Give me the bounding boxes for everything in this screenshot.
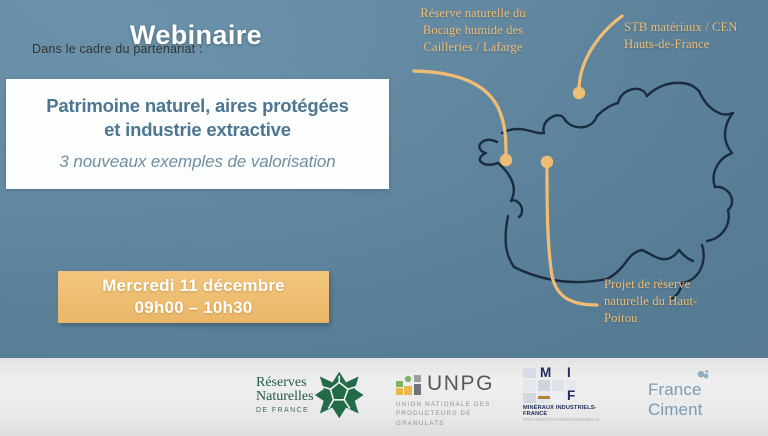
time-value: 09h00 – 10h30 xyxy=(135,297,253,319)
connector-stb xyxy=(579,16,622,91)
map-marker-stb xyxy=(573,87,585,99)
map-label-stb-line-2: Hauts-de-France xyxy=(624,36,768,53)
date-badge: Mercredi 11 décembre 09h00 – 10h30 xyxy=(58,271,329,323)
unpg-mark-row: UNPG xyxy=(396,372,494,396)
unpg-tagline: UNION NATIONALE DES PRODUCTEURS DE GRANU… xyxy=(396,400,514,428)
rnf-line-3: DE FRANCE xyxy=(256,407,314,414)
map-label-bocage-line-2: Bocage humide des xyxy=(388,22,558,39)
france-map-region: Réserve naturelle du Bocage humide des C… xyxy=(392,0,768,358)
map-label-poitou-line-1: Projet de réserve xyxy=(604,276,734,293)
map-label-stb: STB matériaux / CEN Hauts-de-France xyxy=(624,19,768,53)
connector-poitou xyxy=(547,164,597,305)
headline-main: Patrimoine naturel, aires protégées et i… xyxy=(46,94,348,141)
headline-line-1: Patrimoine naturel, aires protégées xyxy=(46,94,348,117)
map-label-poitou: Projet de réserve naturelle du Haut- Poi… xyxy=(604,276,734,327)
partnership-label: Dans le cadre du partenariat : xyxy=(32,42,203,56)
mif-letter-m: M xyxy=(540,365,551,380)
mif-letter-i: I xyxy=(567,365,571,380)
rnf-wordmark: Réserves Naturelles DE FRANCE xyxy=(256,376,314,414)
connector-bocage xyxy=(414,71,506,158)
map-label-bocage-line-1: Réserve naturelle du xyxy=(388,5,558,22)
map-marker-bocage xyxy=(500,154,512,166)
webinar-slide: Webinaire Patrimoine naturel, aires prot… xyxy=(0,0,768,436)
headline-card: Patrimoine naturel, aires protégées et i… xyxy=(6,79,389,189)
map-label-bocage-line-3: Cailleries / Lafarge xyxy=(388,39,558,56)
unpg-wordmark: UNPG xyxy=(427,372,494,396)
map-label-poitou-line-3: Poitou xyxy=(604,310,734,327)
unpg-tagline-line-2: PRODUCTEURS DE GRANULATS xyxy=(396,409,514,428)
rnf-line-1: Réserves xyxy=(256,376,314,391)
france-ciment-wordmark: France Ciment xyxy=(648,380,760,420)
logo-mif: M I F MINÉRAUX INDUSTRIELS-FRANCE ORGANI… xyxy=(523,366,613,422)
mif-letter-f: F xyxy=(567,388,575,403)
unpg-tagline-line-1: UNION NATIONALE DES xyxy=(396,400,514,409)
map-label-bocage: Réserve naturelle du Bocage humide des C… xyxy=(388,5,558,56)
map-marker-poitou xyxy=(541,156,553,168)
france-ciment-circles-icon xyxy=(680,370,728,379)
map-label-stb-line-1: STB matériaux / CEN xyxy=(624,19,768,36)
logo-unpg: UNPG UNION NATIONALE DES PRODUCTEURS DE … xyxy=(396,372,514,420)
date-value: Mercredi 11 décembre xyxy=(102,275,285,297)
logo-france-ciment: France Ciment xyxy=(648,370,760,420)
rnf-star-emblem xyxy=(314,370,364,420)
headline-line-2: et industrie extractive xyxy=(46,118,348,141)
mif-tagline: MINÉRAUX INDUSTRIELS-FRANCE xyxy=(523,405,613,417)
headline-subtitle: 3 nouveaux exemples de valorisation xyxy=(59,152,335,172)
unpg-blocks-icon xyxy=(396,373,422,396)
logo-reserves-naturelles-de-france: Réserves Naturelles DE FRANCE xyxy=(256,368,364,422)
map-label-poitou-line-2: naturelle du Haut- xyxy=(604,293,734,310)
mif-mark: M I F xyxy=(523,366,585,405)
rnf-line-2: Naturelles xyxy=(256,390,314,405)
mif-texture-icon xyxy=(523,366,585,406)
mif-tagline-secondary: ORGANISATION PROFESSIONNELLE xyxy=(523,417,599,422)
